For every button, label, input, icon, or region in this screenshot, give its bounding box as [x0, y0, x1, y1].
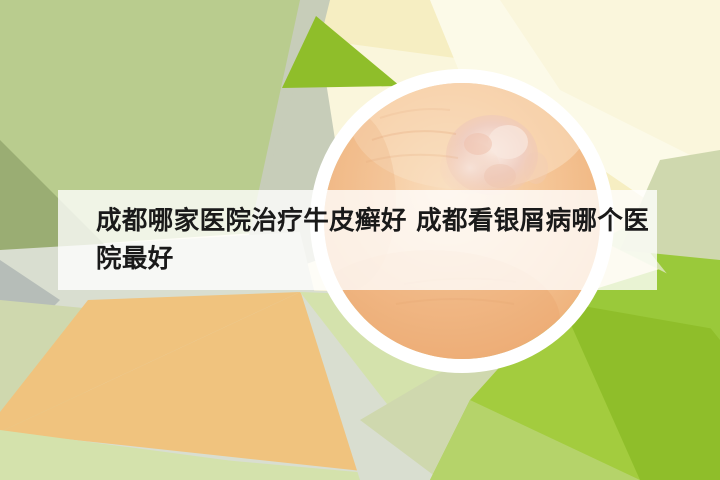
lesion-texture-2 — [484, 164, 516, 188]
cover-image-canvas: 成都哪家医院治疗牛皮癣好 成都看银屑病哪个医院最好 — [0, 0, 720, 480]
lesion-texture-3 — [524, 152, 548, 184]
page-title: 成都哪家医院治疗牛皮癣好 成都看银屑病哪个医院最好 — [96, 202, 656, 278]
lesion-scale-highlight — [488, 125, 528, 159]
lesion-texture-1 — [464, 133, 492, 155]
